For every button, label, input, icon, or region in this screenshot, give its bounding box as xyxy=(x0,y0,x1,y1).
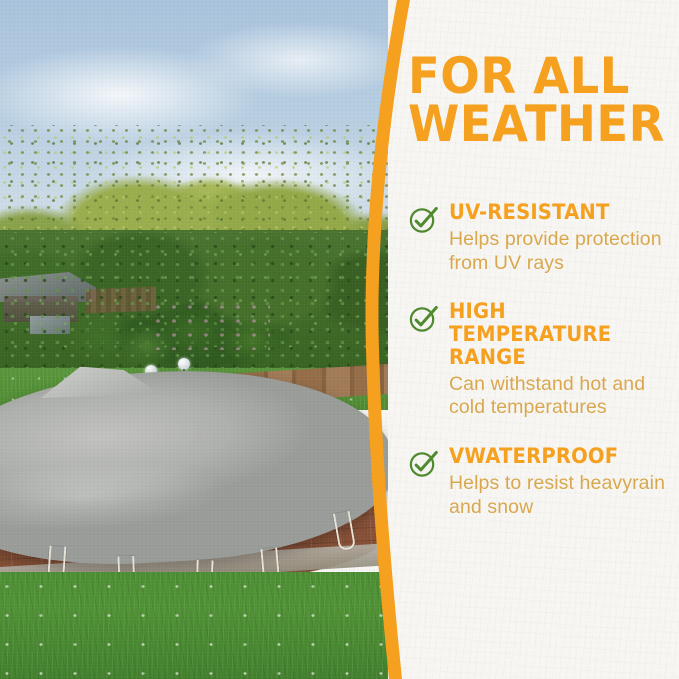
product-feature-banner: FOR ALL WEATHER UV-RESISTANT Helps provi… xyxy=(0,0,679,679)
feature-item: UV-RESISTANT Helps provide protection fr… xyxy=(408,202,671,275)
check-circle-icon xyxy=(408,448,439,479)
pool-cover-photo xyxy=(0,0,400,679)
feature-item: VWATERPROOF Helps to resist heavyrain an… xyxy=(408,446,671,519)
feature-title: VWATERPROOF xyxy=(449,446,651,469)
front-lawn-texture xyxy=(0,572,400,679)
feature-item: HIGH TEMPERATURE RANGE Can withstand hot… xyxy=(408,301,671,420)
feature-title: UV-RESISTANT xyxy=(449,202,651,225)
check-circle-icon xyxy=(408,303,439,334)
feature-description: Can withstand hot and cold temperatures xyxy=(449,373,671,421)
check-circle-icon xyxy=(408,204,439,235)
feature-title: HIGH TEMPERATURE RANGE xyxy=(449,301,651,369)
page-title: FOR ALL WEATHER xyxy=(408,52,653,148)
feature-description: Helps provide protection from UV rays xyxy=(449,228,671,276)
feature-list: UV-RESISTANT Helps provide protection fr… xyxy=(408,202,671,520)
feature-description: Helps to resist heavyrain and snow xyxy=(449,472,671,520)
flowering-bush xyxy=(150,300,270,350)
feature-panel: FOR ALL WEATHER UV-RESISTANT Helps provi… xyxy=(388,0,679,679)
